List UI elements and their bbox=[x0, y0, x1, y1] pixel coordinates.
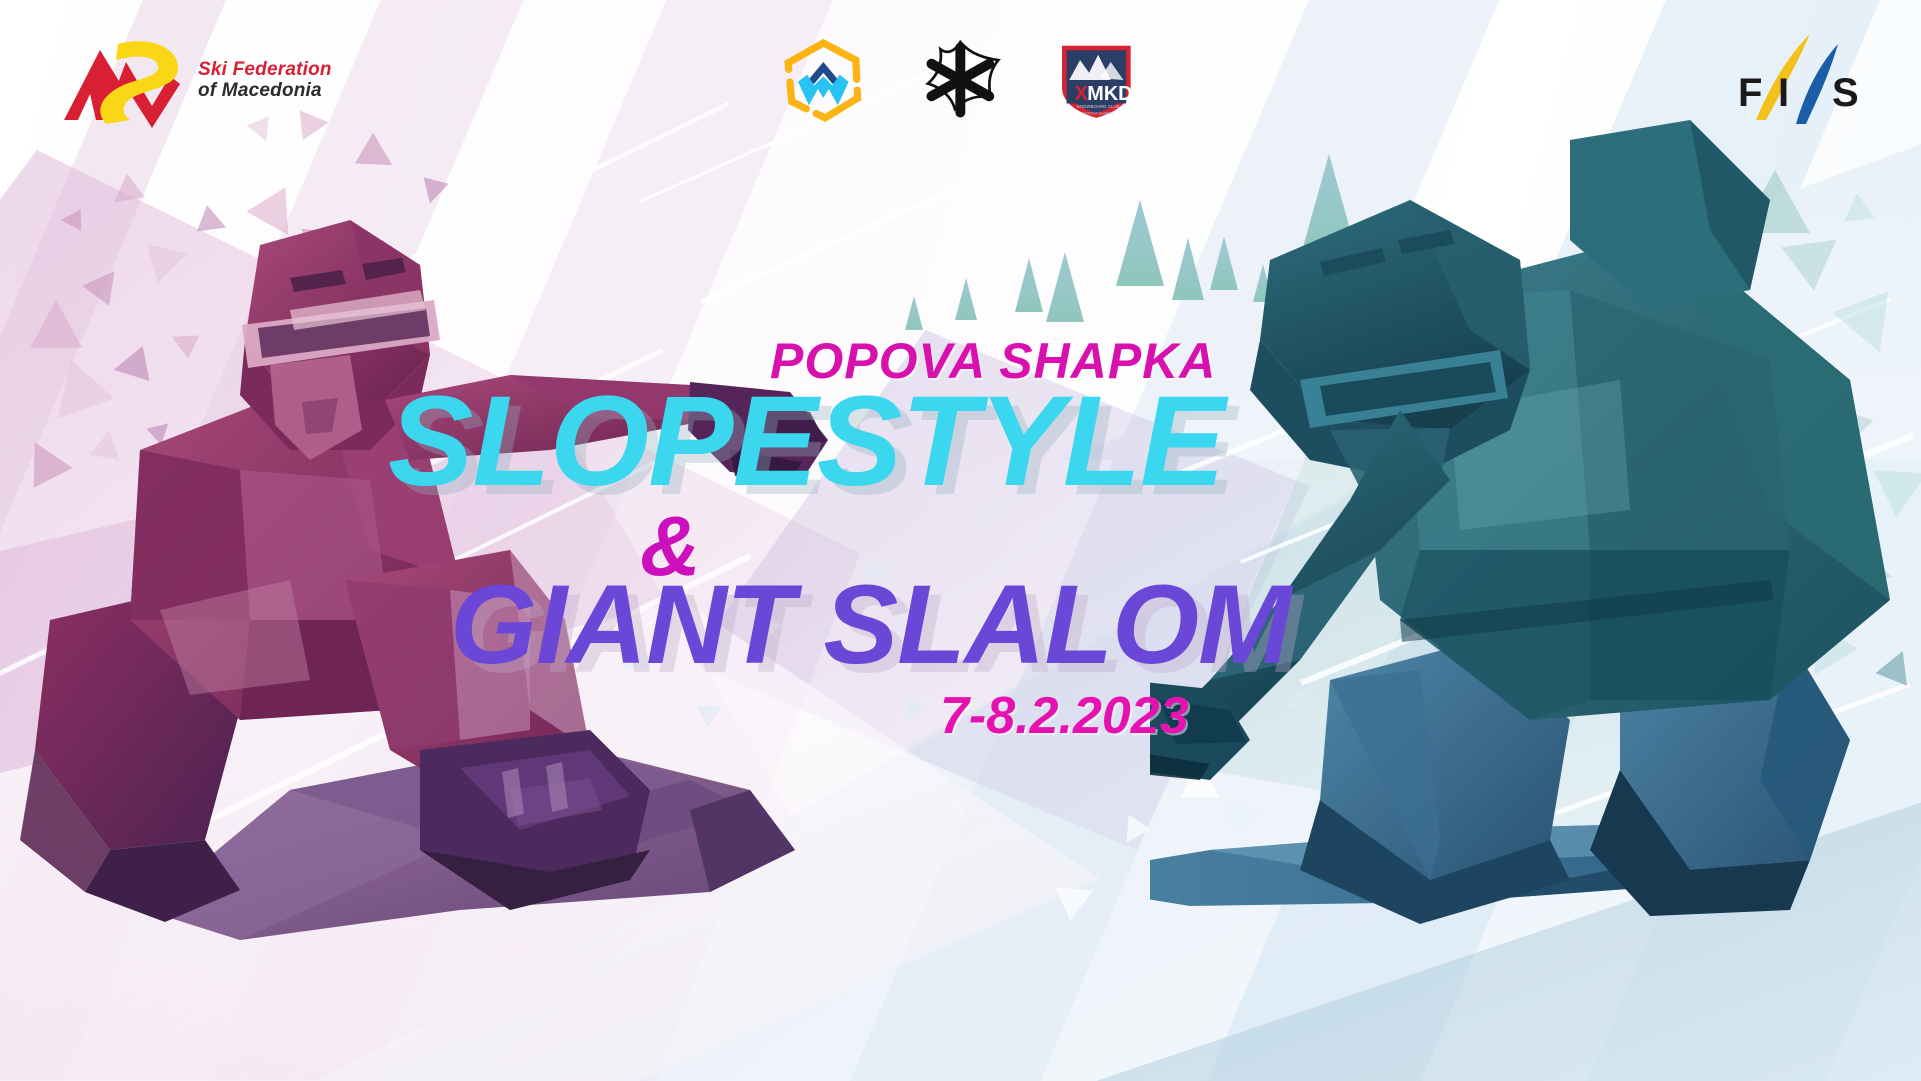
svg-text:MKD: MKD bbox=[1088, 83, 1133, 105]
event-secondary-title: GIANT SLALOM bbox=[450, 560, 1290, 689]
title-block: POPOVA SHAPKA SLOPESTYLE & GIANT SLALOM … bbox=[440, 320, 1360, 780]
poster-canvas: Ski Federation of Macedonia X bbox=[0, 0, 1921, 1081]
svg-text:S: S bbox=[1832, 71, 1859, 115]
hexagon-w-mountain-logo-icon bbox=[780, 34, 867, 126]
ski-federation-of-macedonia-logo: Ski Federation of Macedonia bbox=[60, 30, 350, 130]
sponsor-logo-row: X MKD SNOWBOARD CLUB POPOVA SHAPKA bbox=[780, 32, 1140, 128]
xmkd-location: POPOVA SHAPKA bbox=[1083, 111, 1114, 115]
svg-text:I: I bbox=[1778, 71, 1789, 115]
xmkd-snowboard-club-logo-icon: X MKD SNOWBOARD CLUB POPOVA SHAPKA bbox=[1053, 34, 1140, 126]
xmkd-subtitle: SNOWBOARD CLUB bbox=[1077, 104, 1120, 109]
sfm-line-1: Ski Federation bbox=[198, 59, 332, 80]
fis-logo-icon: F I S bbox=[1736, 28, 1866, 124]
sfm-line-2: of Macedonia bbox=[198, 80, 332, 101]
polygon-shard bbox=[1055, 874, 1101, 921]
polygon-shard bbox=[1115, 815, 1150, 850]
event-date-text: 7-8.2.2023 bbox=[940, 686, 1189, 746]
sfm-mark-icon bbox=[60, 32, 188, 128]
black-snowflake-star-logo-icon bbox=[917, 34, 1004, 126]
event-primary-title: SLOPESTYLE bbox=[388, 368, 1224, 515]
svg-text:F: F bbox=[1738, 71, 1762, 115]
sfm-wordmark: Ski Federation of Macedonia bbox=[198, 59, 332, 102]
